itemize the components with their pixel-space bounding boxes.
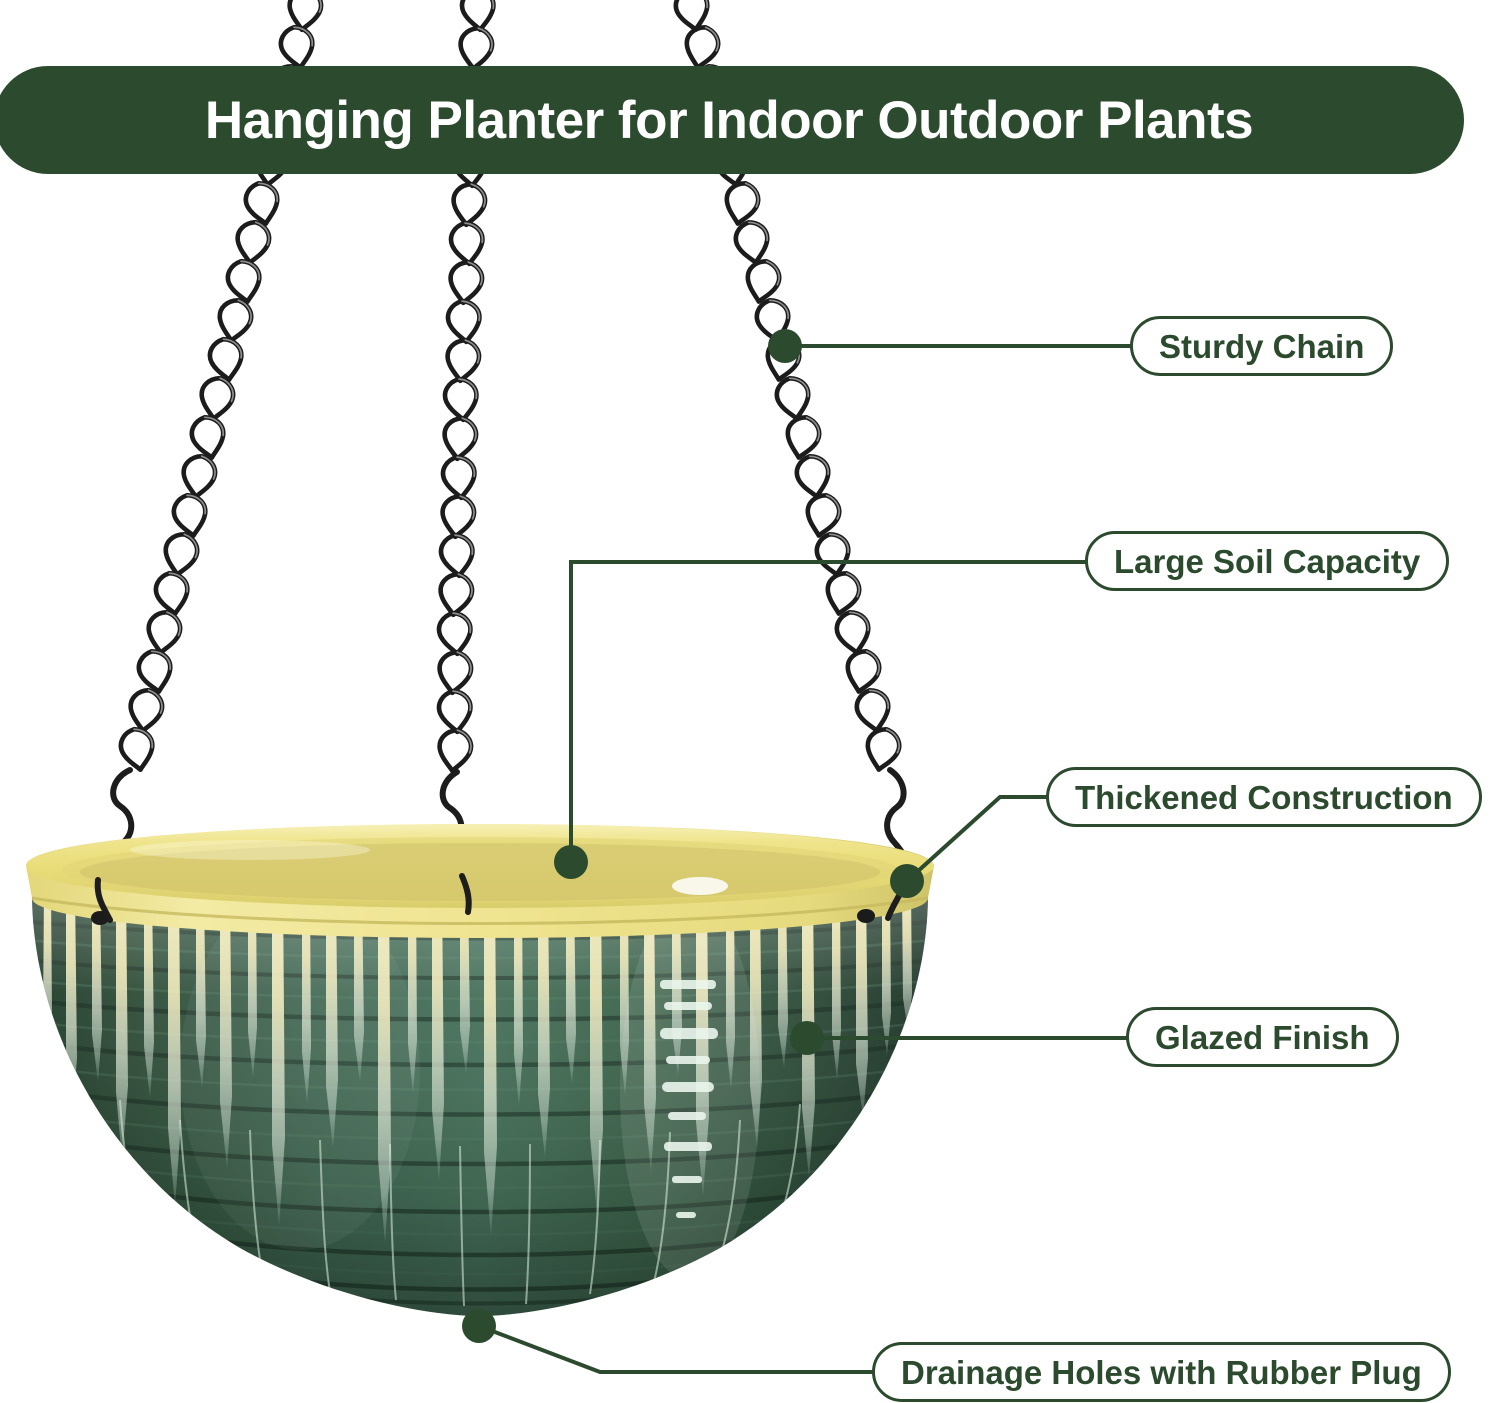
infographic-canvas: Sturdy Chain Large Soil Capacity Thicken… bbox=[0, 0, 1500, 1403]
planter-pot-illustration bbox=[0, 820, 960, 1360]
callout-glazed-finish[interactable]: Glazed Finish bbox=[1126, 1007, 1399, 1067]
callout-thickened-construction[interactable]: Thickened Construction bbox=[1046, 767, 1482, 827]
callout-large-soil-capacity[interactable]: Large Soil Capacity bbox=[1085, 531, 1449, 591]
callout-drainage-holes[interactable]: Drainage Holes with Rubber Plug bbox=[872, 1342, 1451, 1402]
connector-large-soil-capacity bbox=[571, 562, 1088, 862]
title-banner: Hanging Planter for Indoor Outdoor Plant… bbox=[0, 66, 1464, 174]
callout-sturdy-chain-label: Sturdy Chain bbox=[1159, 330, 1364, 363]
callout-glazed-finish-label: Glazed Finish bbox=[1155, 1021, 1370, 1054]
callout-drainage-holes-label: Drainage Holes with Rubber Plug bbox=[901, 1356, 1422, 1389]
pot-body bbox=[0, 880, 960, 1340]
callout-dot-sturdy-chain-icon bbox=[768, 329, 802, 363]
callout-sturdy-chain[interactable]: Sturdy Chain bbox=[1130, 316, 1393, 376]
pot-rim bbox=[26, 824, 934, 938]
callout-large-soil-capacity-label: Large Soil Capacity bbox=[1114, 545, 1420, 578]
callout-thickened-construction-label: Thickened Construction bbox=[1075, 781, 1453, 814]
page-title: Hanging Planter for Indoor Outdoor Plant… bbox=[205, 90, 1253, 151]
